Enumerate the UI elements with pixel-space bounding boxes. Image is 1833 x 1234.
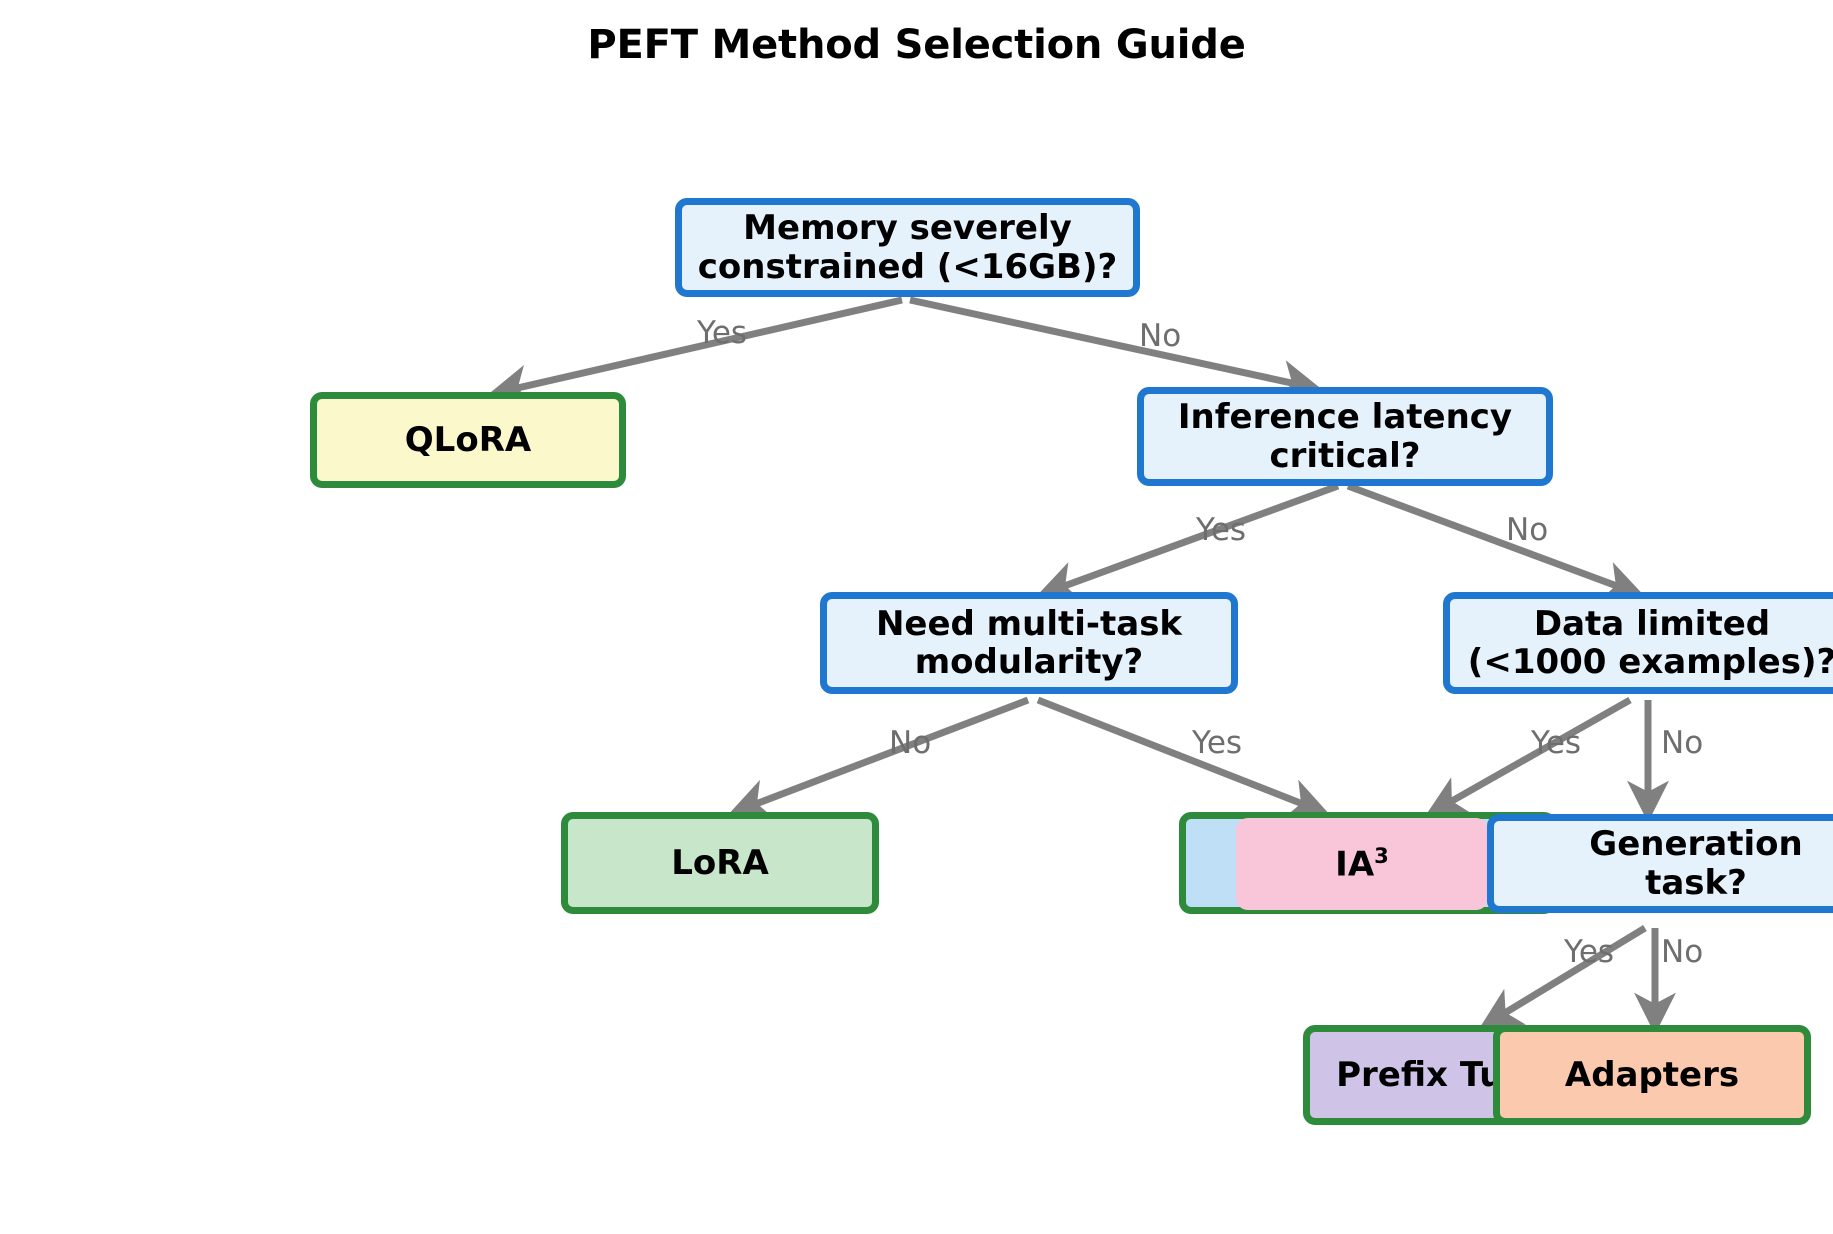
node-generation-task[interactable]: Generation task? xyxy=(1487,814,1833,913)
node-adapters-label: Adapters xyxy=(1565,1056,1739,1094)
node-adapters[interactable]: Adapters xyxy=(1493,1025,1811,1125)
edge-datalimited-ia3 xyxy=(1436,700,1630,810)
edge-memory-latency xyxy=(910,300,1310,387)
node-modularity-line1: Need multi-task xyxy=(876,604,1182,644)
node-lora[interactable]: LoRA xyxy=(561,812,879,914)
edge-memory-qlora xyxy=(500,300,902,392)
node-datalimited-line2: (<1000 examples)? xyxy=(1468,642,1833,682)
node-memory-line1: Memory severely xyxy=(743,208,1072,248)
node-memory-constrained[interactable]: Memory severely constrained (<16GB)? xyxy=(675,198,1140,297)
node-modularity-line2: modularity? xyxy=(915,642,1144,682)
node-data-limited[interactable]: Data limited (<1000 examples)? xyxy=(1443,592,1833,694)
node-generation-line2: task? xyxy=(1645,863,1747,903)
diagram-canvas: PEFT Method Selection Guide Yes No Yes xyxy=(0,0,1833,1234)
node-multitask-modularity[interactable]: Need multi-task modularity? xyxy=(820,592,1238,694)
edge-generation-prefix xyxy=(1490,928,1645,1022)
node-qlora-label: QLoRA xyxy=(405,421,531,459)
edge-modularity-lora xyxy=(740,700,1028,810)
edge-modularity-loradynamic xyxy=(1038,700,1318,810)
node-qlora[interactable]: QLoRA xyxy=(310,392,626,488)
node-ia3-label: IA xyxy=(1335,845,1374,885)
node-latency-line2: critical? xyxy=(1270,436,1421,476)
node-datalimited-line1: Data limited xyxy=(1534,604,1770,644)
node-lora-label: LoRA xyxy=(671,844,769,882)
node-memory-line2: constrained (<16GB)? xyxy=(698,247,1117,287)
node-latency-line1: Inference latency xyxy=(1178,397,1512,437)
edge-latency-modularity xyxy=(1048,486,1338,592)
edge-latency-datalimited xyxy=(1348,486,1633,592)
node-inference-latency[interactable]: Inference latency critical? xyxy=(1137,387,1553,486)
node-ia3[interactable]: IA3 xyxy=(1236,818,1488,910)
node-ia3-superscript: 3 xyxy=(1374,843,1389,868)
node-generation-line1: Generation xyxy=(1589,824,1802,864)
